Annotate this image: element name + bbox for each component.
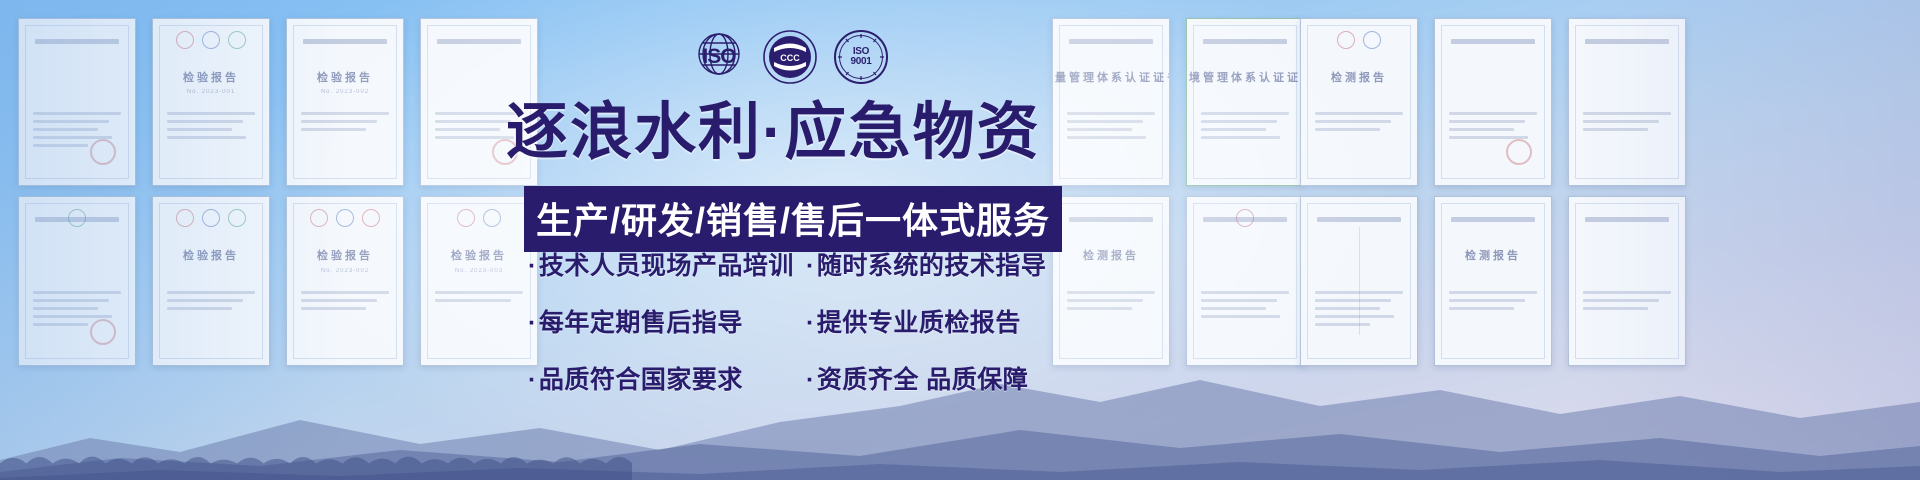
ccc-emblem-icon: CCC <box>761 28 819 86</box>
certificate-title: 质量管理体系认证证书 <box>1052 69 1170 85</box>
certificate-header-rule <box>1203 39 1287 44</box>
list-item-label: 随时系统的技术指导 <box>817 252 1047 280</box>
certificate-thumb: 检验报告 No. 2023-002 <box>286 196 404 366</box>
ccc-certification-badge: CCC <box>761 28 819 86</box>
certificate-thumb <box>18 18 136 186</box>
certificate-text-lines <box>1315 291 1403 331</box>
certificate-header-rule <box>303 39 387 44</box>
certificate-header-rule <box>35 217 119 222</box>
certificate-marks <box>1199 209 1292 227</box>
list-item-label: 每年定期售后指导 <box>539 309 743 337</box>
certificate-thumb: 环境管理体系认证证书 <box>1186 18 1304 186</box>
certificate-header-rule <box>1585 39 1669 44</box>
bullet-marker-icon: · <box>528 252 537 280</box>
certificate-title: 检测报告 <box>1083 247 1139 263</box>
certificate-text-lines <box>1583 291 1671 315</box>
certificate-marks <box>165 31 258 49</box>
subtitle-bar: 生产/研发/销售/售后一体式服务 <box>524 186 1062 252</box>
certificate-text-lines <box>1201 112 1289 144</box>
certificate-title: 检测报告 <box>1465 247 1521 263</box>
certificate-thumb: 检验报告 <box>152 196 270 366</box>
certificate-title: 检验报告 <box>451 247 507 263</box>
certificate-text-lines <box>1449 291 1537 315</box>
certificate-title: 检验报告 <box>317 69 373 85</box>
certificate-header-rule <box>1451 217 1535 222</box>
list-item-label: 资质齐全 品质保障 <box>817 366 1028 394</box>
certificate-thumb <box>1434 18 1552 186</box>
certificate-thumb: 检验报告 No. 2023-001 <box>152 18 270 186</box>
promo-banner: 检验报告 No. 2023-001 检验报告 No. 2023-002 质量管理… <box>0 0 1920 480</box>
certificate-thumb: 检验报告 No. 2023-002 <box>286 18 404 186</box>
list-item-label: 提供专业质检报告 <box>817 309 1021 337</box>
certificate-header-rule <box>1451 39 1535 44</box>
certificate-header-rule <box>1069 39 1153 44</box>
list-item-label: 品质符合国家要求 <box>539 366 743 394</box>
feature-bullet-list: ·技术人员现场产品培训 ·随时系统的技术指导 ·每年定期售后指导 ·提供专业质检… <box>528 246 1088 396</box>
certificate-border <box>293 25 397 179</box>
bullet-marker-icon: · <box>806 252 815 280</box>
certificate-border <box>1441 203 1545 359</box>
certificate-text-lines <box>301 291 389 315</box>
list-item: ·技术人员现场产品培训 <box>528 246 806 282</box>
certificate-subtitle: No. 2023-001 <box>187 89 235 95</box>
bullet-marker-icon: · <box>528 366 537 394</box>
certificate-header-rule <box>1585 217 1669 222</box>
certificate-thumb <box>18 196 136 366</box>
certificate-text-lines <box>1315 112 1403 136</box>
list-item-label: 技术人员现场产品培训 <box>539 252 794 280</box>
certificate-marks <box>165 209 258 227</box>
certificate-title: 检测报告 <box>1331 69 1387 85</box>
certificate-thumb <box>1568 18 1686 186</box>
certificate-marks <box>433 209 526 227</box>
list-item: ·资质齐全 品质保障 <box>806 360 1088 396</box>
certificate-title: 检验报告 <box>183 69 239 85</box>
certificate-border <box>1575 203 1679 359</box>
iso-globe-badge: ISO <box>690 28 748 86</box>
bullet-marker-icon: · <box>806 366 815 394</box>
certificate-thumb: 检验报告 No. 2023-003 <box>420 196 538 366</box>
certificate-marks <box>1313 31 1406 49</box>
certificate-thumb: 检测报告 <box>1434 196 1552 366</box>
certificate-text-lines <box>1583 112 1671 136</box>
certificate-header-rule <box>437 39 521 44</box>
list-item: ·每年定期售后指导 <box>528 303 806 339</box>
certification-badges: ISO CCC ISO 9001 <box>690 26 890 88</box>
page-title: 逐浪水利·应急物资 <box>506 100 1086 167</box>
certificate-text-lines <box>435 291 523 307</box>
certificate-header-rule <box>35 39 119 44</box>
certificate-subtitle: No. 2023-003 <box>455 268 503 274</box>
certificate-border <box>1575 25 1679 179</box>
certificate-thumb <box>1568 196 1686 366</box>
list-item: ·随时系统的技术指导 <box>806 246 1088 282</box>
iso-badge-label: ISO <box>690 45 748 69</box>
svg-text:CCC: CCC <box>780 53 800 63</box>
certificate-text-lines <box>1201 291 1289 323</box>
certificate-title: 环境管理体系认证证书 <box>1186 69 1304 85</box>
bullet-marker-icon: · <box>806 309 815 337</box>
certificate-thumb: 检测报告 <box>1300 18 1418 186</box>
certificate-subtitle: No. 2023-002 <box>321 268 369 274</box>
bullet-marker-icon: · <box>528 309 537 337</box>
list-item: ·品质符合国家要求 <box>528 360 806 396</box>
certificate-header-rule <box>1317 217 1401 222</box>
certificate-subtitle: No. 2023-002 <box>321 89 369 95</box>
cqc-iso9001-badge: ISO 9001 <box>832 28 890 86</box>
certificate-border <box>1193 25 1297 179</box>
certificate-text-lines <box>167 291 255 315</box>
certificate-text-lines <box>167 112 255 144</box>
certificate-title: 检验报告 <box>317 247 373 263</box>
certificate-thumb <box>1300 196 1418 366</box>
certificate-thumb <box>1186 196 1304 366</box>
cqc-9001-text: 9001 <box>850 56 871 67</box>
certificate-text-lines <box>301 112 389 136</box>
certificate-marks <box>299 209 392 227</box>
certificate-header-rule <box>1069 217 1153 222</box>
certificate-title: 检验报告 <box>183 247 239 263</box>
list-item: ·提供专业质检报告 <box>806 303 1088 339</box>
cqc-badge-label: ISO 9001 <box>832 47 890 67</box>
